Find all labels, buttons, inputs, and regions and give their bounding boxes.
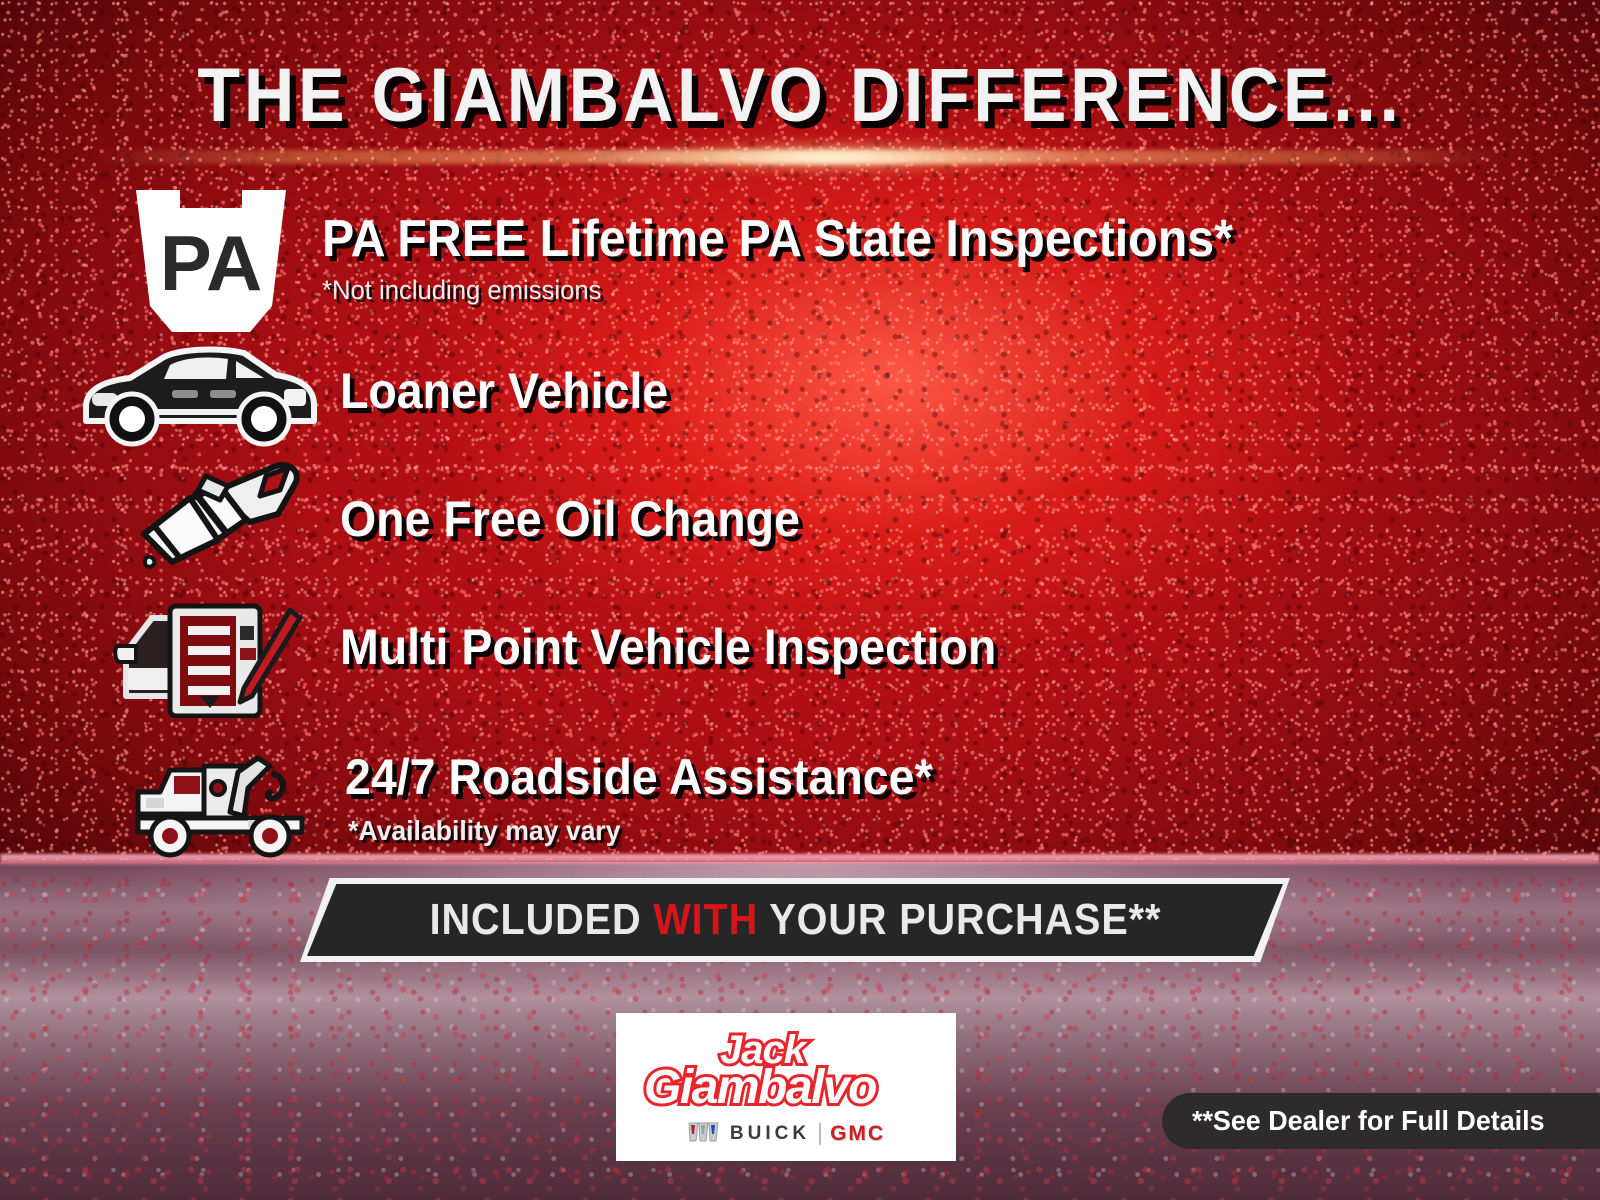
banner-text: INCLUDED WITH YOUR PURCHASE**	[429, 895, 1161, 945]
feature-subtext-0: *Not including emissions	[322, 275, 601, 306]
logo-line-giambalvo: Giambalvo	[644, 1060, 876, 1115]
brand-divider	[819, 1123, 821, 1145]
advertisement-canvas: THE GIAMBALVO DIFFERENCE... PA PA FREE L…	[0, 0, 1600, 1200]
feature-label-3: Multi Point Vehicle Inspection	[340, 618, 996, 676]
gmc-wordmark: GMC	[830, 1122, 885, 1146]
banner-inner: INCLUDED WITH YOUR PURCHASE**	[307, 884, 1283, 956]
feature-label-2: One Free Oil Change	[340, 490, 800, 548]
disclaimer-pill: **See Dealer for Full Details	[1162, 1093, 1600, 1149]
banner-text-highlight: WITH	[653, 895, 758, 944]
page-title: THE GIAMBALVO DIFFERENCE...	[64, 52, 1536, 139]
brand-row: BUICK GMC	[687, 1120, 885, 1149]
car-icon	[68, 345, 330, 455]
banner-text-after: YOUR PURCHASE**	[758, 895, 1161, 944]
pa-keystone-icon: PA	[122, 186, 300, 341]
included-with-purchase-banner: INCLUDED WITH YOUR PURCHASE**	[300, 878, 1290, 962]
clipboard-inspection-icon	[112, 592, 304, 723]
disclaimer-text: **See Dealer for Full Details	[1192, 1105, 1545, 1137]
dealer-logo[interactable]: Jack Giambalvo BUICK GMC	[616, 1013, 956, 1161]
banner-text-before: INCLUDED	[429, 895, 653, 944]
feature-label-0: PA FREE Lifetime PA State Inspections*	[322, 209, 1233, 269]
feature-subtext-4: *Availability may vary	[348, 815, 621, 847]
svg-text:PA: PA	[160, 219, 263, 307]
feature-label-4: 24/7 Roadside Assistance*	[345, 748, 933, 806]
dealer-logo-wordmark: Jack Giambalvo	[636, 1030, 936, 1116]
buick-wordmark: BUICK	[730, 1123, 810, 1145]
oil-can-icon	[128, 458, 308, 575]
feature-label-1: Loaner Vehicle	[340, 362, 668, 420]
tow-truck-icon	[118, 736, 318, 863]
features-list: PA PA FREE Lifetime PA State Inspections…	[0, 180, 1600, 860]
buick-tri-shield-icon	[687, 1120, 721, 1149]
title-streak-glow	[620, 140, 1040, 174]
